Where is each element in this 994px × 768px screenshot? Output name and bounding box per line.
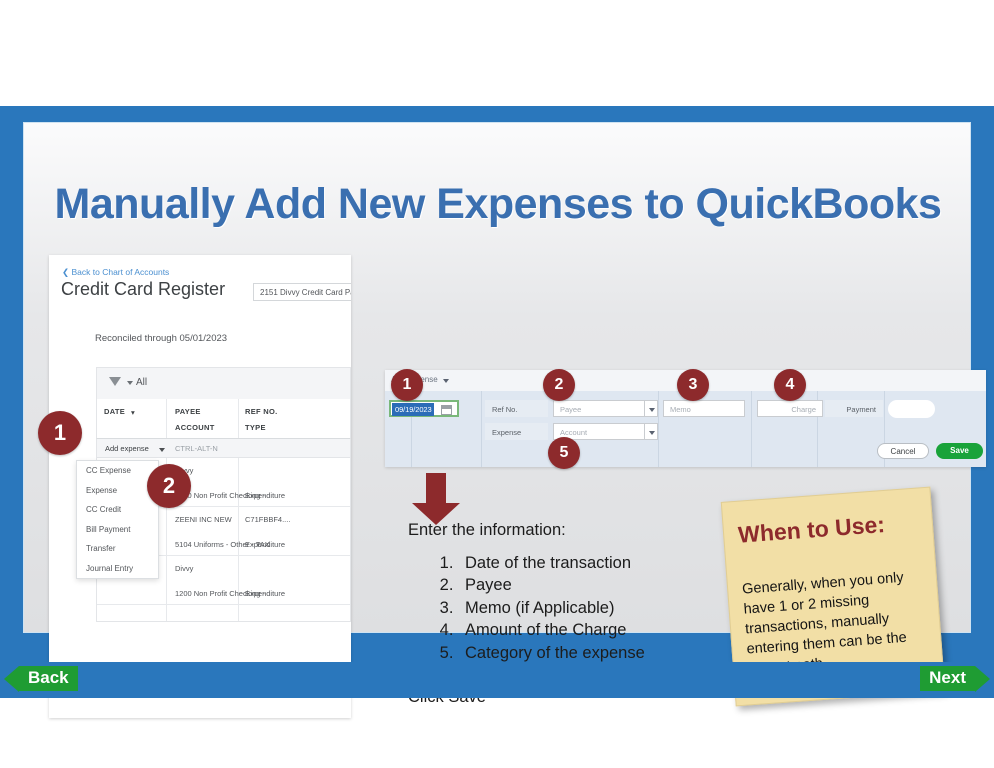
arrow-right-icon: [975, 666, 990, 692]
column-divider: [481, 391, 482, 467]
add-expense-row[interactable]: Add expense CTRL-ALT-N: [96, 439, 351, 458]
reconciled-through-text: Reconciled through 05/01/2023: [95, 333, 227, 344]
callout-badge-4: 4: [774, 369, 806, 401]
payment-field[interactable]: Payment: [825, 400, 883, 417]
back-button-label: Back: [19, 666, 78, 691]
menu-item-expense[interactable]: Expense: [77, 481, 158, 501]
cell-payee-account: 5104 Uniforms - Other - TAX: [175, 540, 270, 549]
list-item: Category of the expense: [458, 642, 698, 664]
register-filter-bar[interactable]: All: [96, 367, 351, 399]
callout-badge-3: 3: [677, 369, 709, 401]
account-selector[interactable]: 2151 Divvy Credit Card Pay: [253, 283, 351, 301]
callout-badge-5: 5: [548, 437, 580, 469]
ref-no-field[interactable]: Ref No.: [485, 400, 548, 417]
sort-caret-icon[interactable]: ▾: [131, 408, 135, 417]
payee-dropdown-toggle[interactable]: [644, 400, 658, 417]
chevron-down-icon: [649, 431, 655, 435]
list-item: Payee: [458, 574, 698, 596]
add-expense-label: Add expense: [105, 444, 149, 453]
cancel-button[interactable]: Cancel: [877, 443, 929, 459]
chevron-down-icon[interactable]: [159, 448, 165, 452]
column-header-refno: REF NO.: [245, 407, 278, 416]
back-button[interactable]: Back: [4, 666, 78, 691]
credit-card-register-screenshot: ❮ Back to Chart of Accounts Credit Card …: [49, 255, 351, 718]
add-expense-shortcut: CTRL-ALT-N: [175, 444, 218, 453]
column-header-account: ACCOUNT: [175, 423, 215, 432]
arrow-left-icon: [4, 666, 19, 692]
list-item: Amount of the Charge: [458, 619, 698, 641]
column-header-type: TYPE: [245, 423, 266, 432]
callout-badge-1: 1: [391, 369, 423, 401]
next-button-label: Next: [920, 666, 975, 691]
filter-funnel-icon: [109, 377, 121, 386]
column-divider: [751, 391, 752, 467]
back-to-chart-of-accounts-link[interactable]: ❮ Back to Chart of Accounts: [62, 267, 169, 278]
menu-item-cc-credit[interactable]: CC Credit: [77, 500, 158, 520]
column-header-date[interactable]: DATE: [104, 407, 125, 416]
sticky-note-title: When to Use:: [737, 511, 886, 549]
filter-label: All: [136, 377, 147, 388]
slide-navigation-bar: Back Next: [0, 662, 994, 698]
register-table-header: DATE ▾ REF NO. TYPE PAYEE ACCOUNT: [96, 399, 351, 439]
callout-badge-2: 2: [543, 369, 575, 401]
payment-action-pill[interactable]: [888, 400, 935, 418]
page-title: Manually Add New Expenses to QuickBooks: [24, 180, 972, 229]
menu-item-journal-entry[interactable]: Journal Entry: [77, 559, 158, 579]
payee-field[interactable]: Payee: [553, 400, 648, 417]
column-divider: [166, 399, 167, 438]
form-body: 09/19/2023 Ref No. Payee Memo Charge Pay…: [385, 391, 986, 467]
chevron-left-icon: ❮: [62, 267, 69, 277]
menu-item-bill-payment[interactable]: Bill Payment: [77, 520, 158, 540]
instructions-list: Date of the transaction Payee Memo (if A…: [408, 552, 698, 664]
save-button[interactable]: Save: [936, 443, 983, 459]
add-expense-dropdown-menu[interactable]: CC Expense Expense CC Credit Bill Paymen…: [76, 460, 159, 579]
callout-badge-1-register: 1: [38, 411, 82, 455]
charge-field[interactable]: Charge: [757, 400, 823, 417]
chevron-down-icon: [649, 408, 655, 412]
down-arrow-icon: [410, 473, 462, 525]
cell-ref-type: C71FBBF4....: [245, 515, 290, 524]
menu-item-transfer[interactable]: Transfer: [77, 539, 158, 559]
date-field[interactable]: 09/19/2023: [389, 400, 459, 417]
slide-canvas: Manually Add New Expenses to QuickBooks …: [23, 122, 971, 633]
back-link-label: Back to Chart of Accounts: [72, 267, 170, 277]
account-dropdown-toggle[interactable]: [644, 423, 658, 440]
memo-field[interactable]: Memo: [663, 400, 745, 417]
cell-payee-account: 1200 Non Profit Checking -: [175, 589, 265, 598]
column-header-payee: PAYEE: [175, 407, 201, 416]
list-item: Memo (if Applicable): [458, 597, 698, 619]
register-title: Credit Card Register: [61, 279, 225, 300]
calendar-icon[interactable]: [441, 405, 452, 415]
cell-payee-account: Divvy: [175, 564, 193, 573]
category-type-field[interactable]: Expense: [485, 423, 548, 440]
column-divider: [238, 399, 239, 438]
slide-frame: Manually Add New Expenses to QuickBooks …: [0, 106, 994, 662]
callout-badge-2-register: 2: [147, 464, 191, 508]
chevron-down-icon[interactable]: [443, 379, 449, 383]
chevron-down-icon: [127, 381, 133, 385]
list-item: Date of the transaction: [458, 552, 698, 574]
table-row[interactable]: Expenditure 1200 Non Profit Checking -: [97, 581, 350, 606]
cell-payee-account: ZEENI INC NEW: [175, 515, 232, 524]
menu-item-cc-expense[interactable]: CC Expense: [77, 461, 158, 481]
column-divider: [658, 391, 659, 467]
next-button[interactable]: Next: [920, 666, 990, 691]
date-value: 09/19/2023: [392, 403, 434, 416]
